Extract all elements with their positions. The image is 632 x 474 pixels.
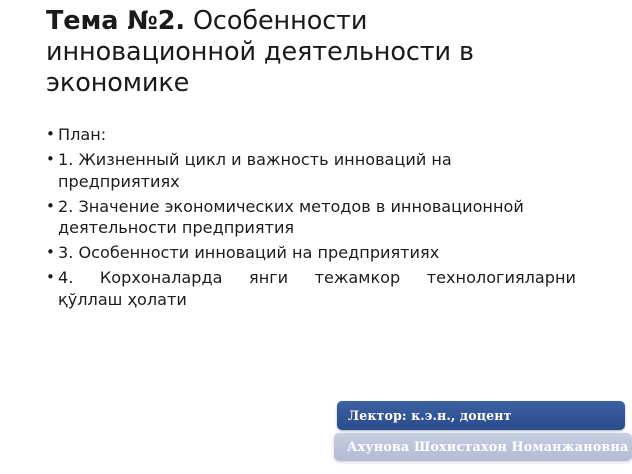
lecturer-title-text: Лектор: к.э.н., доцент: [348, 408, 512, 423]
list-item: 1. Жизненный цикл и важность инноваций н…: [46, 149, 576, 192]
list-item-text: План:: [58, 125, 106, 144]
lecturer-title-bar: Лектор: к.э.н., доцент: [337, 401, 625, 430]
list-item-text: 1. Жизненный цикл и важность инноваций н…: [58, 150, 452, 191]
slide-canvas: Тема №2. Особенности инновационной деяте…: [0, 0, 632, 474]
list-item: 3. Особенности инноваций на предприятиях: [46, 242, 576, 264]
lecturer-banner: Ахунова Шохистахон Номанжановна Лектор: …: [334, 401, 632, 467]
page-title: Тема №2. Особенности инновационной деяте…: [46, 6, 546, 99]
list-item: План:: [46, 124, 576, 146]
list-item-text: 3. Особенности инноваций на предприятиях: [58, 243, 439, 262]
list-item-text: 2. Значение экономических методов в инно…: [58, 197, 524, 238]
plan-list: План: 1. Жизненный цикл и важность иннов…: [46, 124, 576, 314]
lecturer-name-text: Ахунова Шохистахон Номанжановна: [347, 440, 628, 455]
list-item-text-line-2: қўллаш ҳолати: [58, 289, 576, 311]
list-item: 4. Корхоналарда янги тежамкор технология…: [46, 267, 576, 310]
list-item: 2. Значение экономических методов в инно…: [46, 196, 576, 239]
page-title-emphasis: Тема №2.: [46, 6, 185, 36]
list-item-text-line-1: 4. Корхоналарда янги тежамкор технология…: [58, 267, 576, 289]
lecturer-name-bar: Ахунова Шохистахон Номанжановна: [334, 433, 632, 461]
